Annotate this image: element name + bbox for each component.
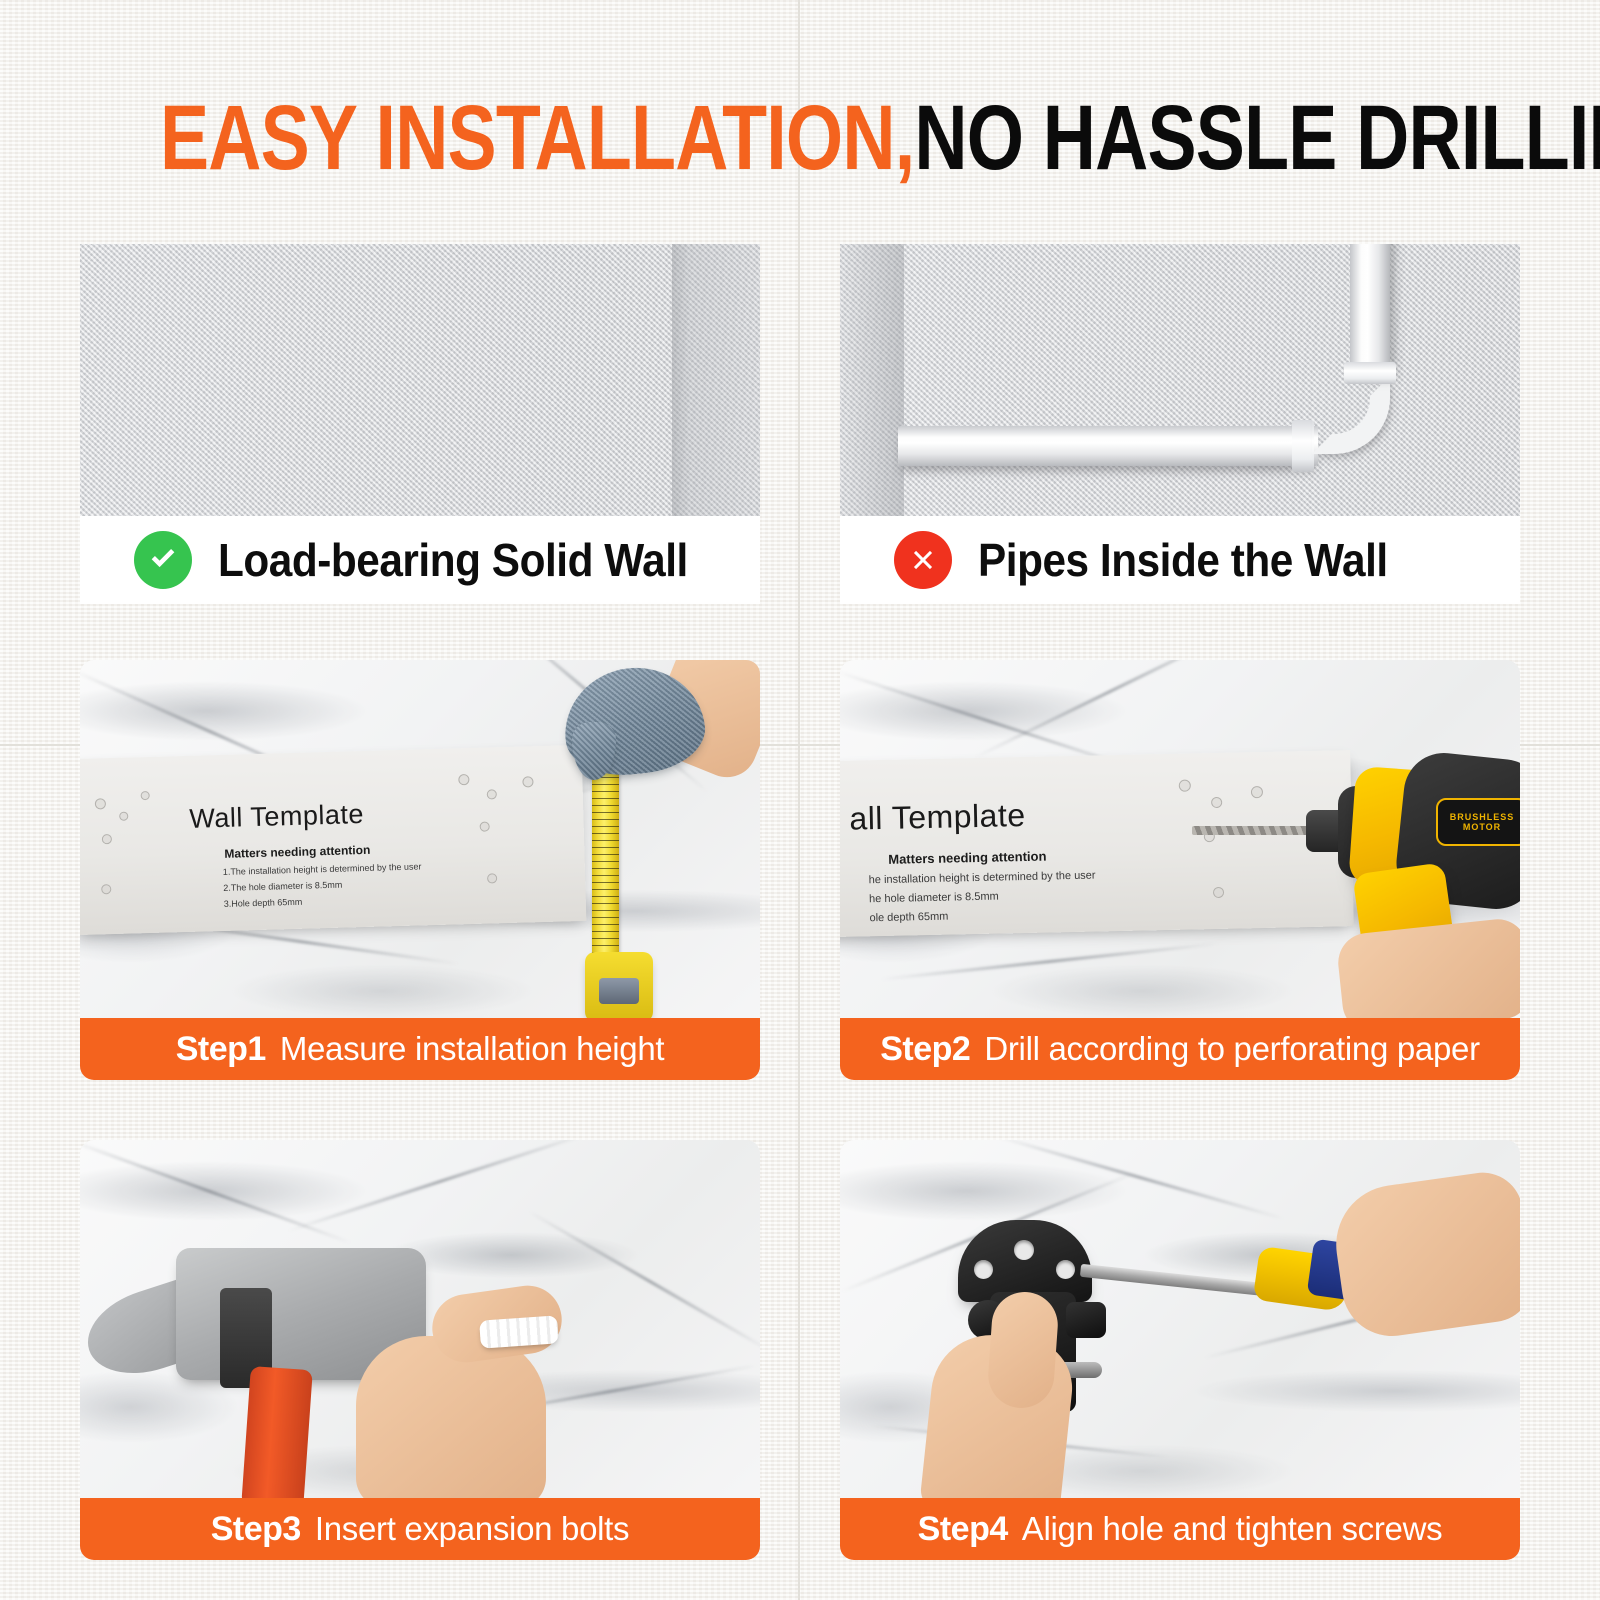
solid-wall-caption: Load-bearing Solid Wall xyxy=(80,516,760,604)
hand xyxy=(356,1336,546,1498)
step1-caption: Step1 Measure installation height xyxy=(80,1018,760,1080)
page-title-part1: EASY INSTALLATION, xyxy=(160,87,914,189)
step3-number: Step3 xyxy=(211,1510,301,1549)
step4-photo xyxy=(840,1140,1520,1498)
wall-template-note-3: ole depth 65mm xyxy=(869,911,948,925)
solid-wall-label: Load-bearing Solid Wall xyxy=(218,533,688,587)
step2-caption: Step2 Drill according to perforating pap… xyxy=(840,1018,1520,1080)
comparison-card-pipes-wall: Pipes Inside the Wall xyxy=(840,244,1520,604)
pipe-coupling-vertical xyxy=(1344,362,1396,384)
template-hole xyxy=(522,776,533,787)
template-hole xyxy=(1213,887,1224,898)
wall-template-note-2: he hole diameter is 8.5mm xyxy=(869,891,999,906)
wall-template-paper: Wall Template Matters needing attention … xyxy=(80,745,586,935)
wall-template-paper: all Template Matters needing attention h… xyxy=(840,750,1354,938)
tape-measure-lock xyxy=(599,978,639,1004)
step-card-2: all Template Matters needing attention h… xyxy=(840,660,1520,1080)
template-hole xyxy=(487,873,497,883)
step4-text: Align hole and tighten screws xyxy=(1022,1510,1443,1548)
wall-template-title: all Template xyxy=(849,797,1026,838)
step4-caption: Step4 Align hole and tighten screws xyxy=(840,1498,1520,1560)
check-icon xyxy=(134,531,192,589)
wall-template-subtitle: Matters needing attention xyxy=(224,843,370,861)
step3-photo xyxy=(80,1140,760,1498)
wall-edge-shading xyxy=(840,244,904,516)
template-hole xyxy=(458,774,469,785)
step2-photo: all Template Matters needing attention h… xyxy=(840,660,1520,1018)
infographic-page: EASY INSTALLATION,NO HASSLE DRILLING Loa… xyxy=(0,0,1600,1600)
step1-photo: Wall Template Matters needing attention … xyxy=(80,660,760,1018)
template-hole xyxy=(101,884,111,894)
bracket-hole xyxy=(974,1260,993,1279)
finger xyxy=(986,1290,1060,1410)
wall-template-note-2: 2.The hole diameter is 8.5mm xyxy=(223,880,342,893)
step-card-1: Wall Template Matters needing attention … xyxy=(80,660,760,1080)
wall-template-note-1: 1.The installation height is determined … xyxy=(223,861,422,877)
template-hole xyxy=(141,791,150,800)
pipe-horizontal xyxy=(898,426,1318,466)
template-hole xyxy=(1179,780,1191,792)
step-card-4: Step4 Align hole and tighten screws xyxy=(840,1140,1520,1560)
bracket-hole xyxy=(1056,1260,1075,1279)
wall-corner-shading xyxy=(672,244,760,516)
template-hole xyxy=(102,834,112,844)
background-seam-vertical xyxy=(798,0,800,1600)
template-hole xyxy=(480,821,490,831)
step3-caption: Step3 Insert expansion bolts xyxy=(80,1498,760,1560)
badge-line-1: BRUSHLESS xyxy=(1450,812,1515,822)
solid-wall-photo xyxy=(80,244,760,516)
wall-template-title: Wall Template xyxy=(189,799,364,835)
page-title: EASY INSTALLATION,NO HASSLE DRILLING xyxy=(160,92,1440,184)
pipe-coupling-horizontal xyxy=(1292,420,1314,472)
pipes-wall-caption: Pipes Inside the Wall xyxy=(840,516,1520,604)
step2-number: Step2 xyxy=(880,1030,970,1069)
wall-template-note-1: he installation height is determined by … xyxy=(869,870,1096,887)
cross-icon xyxy=(894,531,952,589)
step3-text: Insert expansion bolts xyxy=(315,1510,629,1548)
step4-number: Step4 xyxy=(918,1510,1008,1549)
wall-template-note-3: 3.Hole depth 65mm xyxy=(224,897,303,909)
template-hole xyxy=(95,798,106,809)
page-title-part2: NO HASSLE DRILLING xyxy=(914,87,1600,189)
template-hole xyxy=(487,789,497,799)
step2-text: Drill according to perforating paper xyxy=(984,1030,1479,1068)
badge-line-2: MOTOR xyxy=(1463,822,1501,832)
step1-number: Step1 xyxy=(176,1030,266,1069)
step-card-3: Step3 Insert expansion bolts xyxy=(80,1140,760,1560)
template-hole xyxy=(119,812,128,821)
expansion-bolt-plug xyxy=(479,1315,559,1348)
wall-template-subtitle: Matters needing attention xyxy=(888,849,1046,867)
brushless-motor-badge: BRUSHLESS MOTOR xyxy=(1436,798,1520,846)
template-hole xyxy=(1211,797,1222,808)
wall-texture xyxy=(840,244,1520,516)
bracket-hole xyxy=(1014,1240,1034,1260)
template-hole xyxy=(1251,786,1263,798)
tape-measure-case xyxy=(585,952,653,1018)
wall-texture xyxy=(80,244,760,516)
hammer-handle xyxy=(241,1366,313,1498)
drill-bit xyxy=(1192,826,1310,835)
step1-text: Measure installation height xyxy=(280,1030,664,1068)
pipes-wall-photo xyxy=(840,244,1520,516)
comparison-card-solid-wall: Load-bearing Solid Wall xyxy=(80,244,760,604)
pipes-wall-label: Pipes Inside the Wall xyxy=(978,533,1388,587)
bracket-pivot-right xyxy=(1066,1302,1106,1338)
